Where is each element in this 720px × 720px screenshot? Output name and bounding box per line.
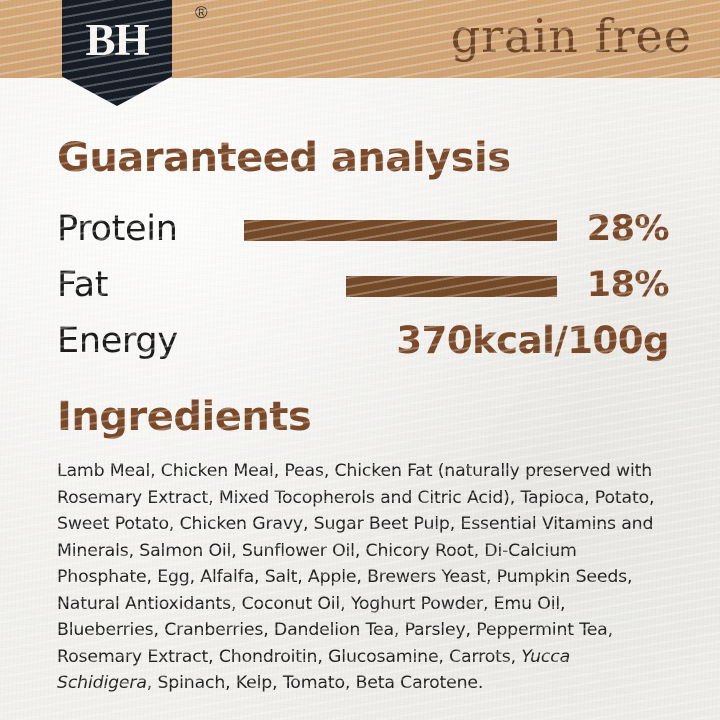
analysis-value-fat: 18% [587,263,669,307]
ingredients-text-segment-1: Lamb Meal, Chicken Meal, Peas, Chicken F… [57,461,654,667]
ingredients-list-text: Lamb Meal, Chicken Meal, Peas, Chicken F… [57,458,663,697]
brand-logo-shield: BH [62,0,172,106]
grain-free-tagline: grain free [451,8,692,66]
analysis-bar-protein [244,220,557,241]
product-label-panel: BH ® grain free Guaranteed analysis Prot… [0,0,720,720]
analysis-row-fat: Fat 18% [57,263,669,311]
analysis-value-protein: 28% [587,207,669,251]
analysis-bar-fat [346,276,557,297]
brand-logo-text: BH [62,18,172,63]
analysis-label-energy: Energy [57,319,178,363]
analysis-label-protein: Protein [57,207,178,251]
ingredients-heading: Ingredients [57,397,311,437]
guaranteed-analysis-heading: Guaranteed analysis [57,138,511,178]
analysis-row-protein: Protein 28% [57,207,669,255]
analysis-label-fat: Fat [57,263,108,307]
analysis-value-energy: 370kcal/100g [396,319,669,363]
registered-trademark-icon: ® [195,4,208,21]
analysis-row-energy: Energy 370kcal/100g [57,319,669,367]
ingredients-text-segment-2: , Spinach, Kelp, Tomato, Beta Carotene. [147,673,483,693]
